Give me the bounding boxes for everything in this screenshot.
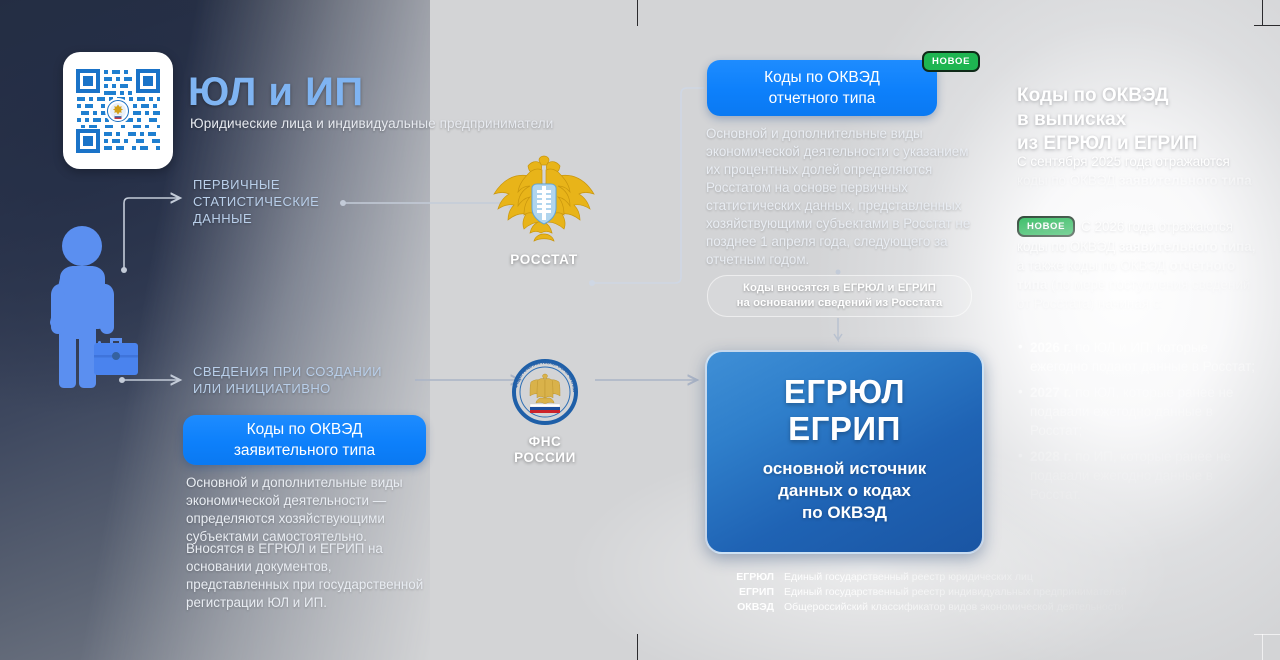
main-card-egrul-egrip: ЕГРЮЛ ЕГРИП основной источник данных о к… — [705, 350, 984, 554]
pill-okved-declarative-type[interactable]: Коды по ОКВЭД заявительного типа — [183, 415, 426, 465]
main-card-subtitle: основной источник данных о кодах по ОКВЭ… — [707, 458, 982, 524]
pill-decl-line2: заявительного типа — [234, 440, 375, 461]
agency-rosstat-label: РОССТАТ — [478, 252, 610, 268]
agency-fns-label-line2: РОССИИ — [486, 450, 604, 466]
right-panel-paragraph-bold: заявительного типа — [1119, 173, 1252, 188]
flow-label-creation-info: СВЕДЕНИЯ ПРИ СОЗДАНИИ ИЛИ ИНИЦИАТИВНО — [193, 363, 382, 397]
fns-round-seal-emblem: ФЕДЕРАЛЬНАЯ НАЛОГОВАЯ СЛУЖБА — [486, 358, 604, 430]
pill-report-line1: Коды по ОКВЭД — [764, 67, 880, 88]
bullet-year: 2028 г. — [1030, 449, 1071, 464]
agency-fns-label-line1: ФНС — [486, 434, 604, 450]
bullet-year: 2027 г. — [1030, 385, 1071, 400]
legend-definition: Единый государственный реестр индивидуал… — [784, 585, 1127, 600]
badge-new-report: НОВОЕ — [922, 51, 980, 72]
legend-abbr: ЕГРИП — [718, 585, 774, 600]
main-card-title-line2: ЕГРИП — [707, 410, 982, 447]
right-panel-block-text-3: (по мере поступления сведений от Росстат… — [1017, 277, 1250, 311]
label-line: СВЕДЕНИЯ ПРИ СОЗДАНИИ — [193, 363, 382, 380]
right-panel-block-text-2: а также коды по ОКВЭД — [1017, 258, 1169, 273]
label-line: ИЛИ ИНИЦИАТИВНО — [193, 380, 382, 397]
bullet-year: 2026 г. — [1030, 340, 1071, 355]
legend-abbreviations: ЕГРЮЛ Единый государственный реестр юрид… — [718, 570, 1238, 615]
agency-fns: ФЕДЕРАЛЬНАЯ НАЛОГОВАЯ СЛУЖБА ФНС РОССИИ — [486, 358, 604, 466]
label-line: ПЕРВИЧНЫЕ — [193, 176, 319, 193]
pill-decl-line1: Коды по ОКВЭД — [234, 419, 375, 440]
paragraph-declarative-2: Вносятся в ЕГРЮЛ и ЕГРИП на основании до… — [186, 540, 436, 612]
right-panel-title-line1: Коды по ОКВЭД — [1017, 84, 1267, 108]
list-item: 2026 г. по ЮЛ и ИП, которые ежегодно под… — [1017, 338, 1259, 376]
main-card-title: ЕГРЮЛ ЕГРИП — [707, 352, 982, 447]
legend-definition: Общероссийский классификатор видов эконо… — [784, 600, 1124, 615]
legend-definition: Единый государственный реестр юридически… — [784, 570, 1033, 585]
infographic-canvas: ЮЛ и ИП Юридические лица и индивидуальны… — [0, 0, 1280, 660]
paragraph-report-type: Основной и дополнительные виды экономиче… — [706, 125, 981, 269]
pill-codes-entered-note: Коды вносятся в ЕГРЮЛ и ЕГРИП на основан… — [707, 275, 972, 317]
paragraph-declarative-1: Основной и дополнительные виды экономиче… — [186, 474, 436, 546]
right-panel-title-line2: в выписках — [1017, 108, 1267, 132]
main-card-title-line1: ЕГРЮЛ — [707, 373, 982, 410]
legend-row: ОКВЭД Общероссийский классификатор видов… — [718, 600, 1238, 615]
pill-report-line2: отчетного типа — [764, 88, 880, 109]
agency-fns-label: ФНС РОССИИ — [486, 434, 604, 466]
pill-okved-report-type[interactable]: Коды по ОКВЭД отчетного типа — [707, 60, 937, 116]
label-line: СТАТИСТИЧЕСКИЕ — [193, 193, 319, 210]
legend-row: ЕГРЮЛ Единый государственный реестр юрид… — [718, 570, 1238, 585]
main-card-subtitle-line1: основной источник — [707, 458, 982, 480]
legend-abbr: ОКВЭД — [718, 600, 774, 615]
legend-row: ЕГРИП Единый государственный реестр инди… — [718, 585, 1238, 600]
list-item: 2028 г. по ИП, которые ранее не подавали… — [1017, 447, 1259, 504]
list-item: 2027 г. по ЮЛ, которые ранее не подавали… — [1017, 383, 1259, 440]
label-line: ДАННЫЕ — [193, 210, 319, 227]
main-card-subtitle-line3: по ОКВЭД — [707, 502, 982, 524]
flow-label-primary-statistics: ПЕРВИЧНЫЕ СТАТИСТИЧЕСКИЕ ДАННЫЕ — [193, 176, 319, 227]
right-panel-title: Коды по ОКВЭД в выписках из ЕГРЮЛ и ЕГРИ… — [1017, 84, 1267, 156]
rosstat-double-eagle-emblem — [478, 150, 610, 248]
legend-abbr: ЕГРЮЛ — [718, 570, 774, 585]
right-panel-block-2026: НОВОЕС 2026 года отражаются коды по ОКВЭ… — [1017, 216, 1259, 313]
right-panel-paragraph: С сентября 2025 года отражаются коды по … — [1017, 152, 1257, 190]
badge-new-right-panel: НОВОЕ — [1017, 216, 1075, 237]
ghost-pill-line1: Коды вносятся в ЕГРЮЛ и ЕГРИП — [737, 281, 943, 296]
right-panel-bullet-list: 2026 г. по ЮЛ и ИП, которые ежегодно под… — [1017, 338, 1259, 511]
agency-rosstat: РОССТАТ — [478, 150, 610, 268]
main-card-subtitle-line2: данных о кодах — [707, 480, 982, 502]
right-panel-block-bold-1: заявительного типа, — [1119, 239, 1256, 254]
ghost-pill-line2: на основании сведений из Росстата — [737, 296, 943, 311]
